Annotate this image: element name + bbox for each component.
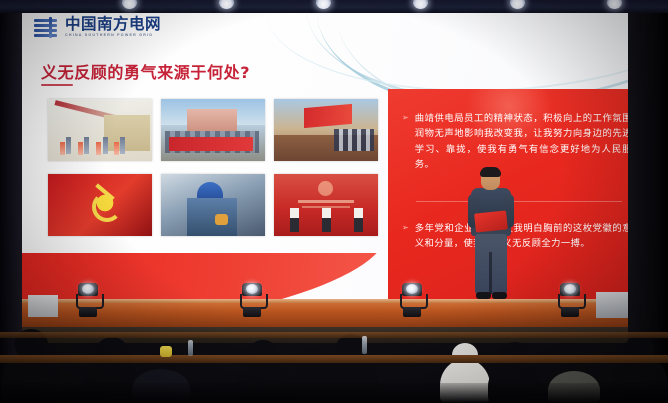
ceiling-light-6	[607, 0, 622, 9]
ceiling-light-3	[316, 0, 331, 9]
drink-cup	[160, 346, 172, 357]
moving-head-light-4	[558, 283, 582, 317]
conference-hall-scene: 中国南方电网 CHINA SOUTHERN POWER GRID 义无反顾的勇气…	[0, 0, 668, 403]
title-underline	[41, 84, 73, 86]
bullet-arrow-icon: ➢	[402, 221, 409, 252]
slide-canvas: 中国南方电网 CHINA SOUTHERN POWER GRID 义无反顾的勇气…	[16, 11, 628, 301]
photo-row-top	[48, 99, 378, 161]
brand-lockup: 中国南方电网 CHINA SOUTHERN POWER GRID	[34, 17, 161, 38]
audience-table-back	[0, 332, 668, 338]
projection-screen: 中国南方电网 CHINA SOUTHERN POWER GRID 义无反顾的勇气…	[16, 11, 628, 301]
stage-edge-highlight	[22, 299, 628, 303]
brand-name-cn: 中国南方电网	[65, 17, 161, 33]
slide-title: 义无反顾的勇气来源于何处?	[41, 59, 250, 83]
photo-team-banner-group	[161, 99, 265, 161]
photo-row-bottom	[48, 174, 378, 236]
ceiling-light-5	[510, 0, 525, 9]
photo-red-flag-fieldwork	[274, 99, 378, 161]
bullet-item-2: ➢ 多年党和企业的教诲让我明白胸前的这枚党徽的意义和分量，使我能够义无反顾全力一…	[402, 221, 628, 252]
panel-divider	[416, 201, 622, 202]
photo-substation-construction	[48, 99, 152, 161]
power-grid-logo-icon	[34, 17, 59, 38]
bullet-item-1: ➢ 曲靖供电局员工的精神状态，积极向上的工作氛围润物无声地影响我改变我，让我努力…	[402, 111, 628, 173]
ceiling-light-2	[219, 0, 234, 9]
ceiling-light-4	[413, 0, 428, 9]
foreground-shadow	[0, 383, 668, 403]
moving-head-light-3	[400, 283, 424, 317]
brand-name-en: CHINA SOUTHERN POWER GRID	[65, 34, 161, 38]
moving-head-light-1	[76, 283, 100, 317]
presenter-on-stage	[468, 168, 514, 303]
water-bottle	[188, 340, 193, 356]
photo-grid	[48, 99, 378, 236]
ceiling-strip	[0, 0, 668, 13]
photo-worker-blue-helmet	[161, 174, 265, 236]
stage-prop-box	[28, 295, 58, 317]
water-bottle	[362, 336, 367, 354]
ceiling-light-1	[122, 0, 137, 9]
photo-award-stage	[274, 174, 378, 236]
slide-bottom-wave	[16, 253, 386, 301]
brand-text: 中国南方电网 CHINA SOUTHERN POWER GRID	[65, 17, 161, 38]
red-folder	[474, 210, 508, 232]
bullet-arrow-icon: ➢	[402, 111, 409, 173]
bullet-text-2: 多年党和企业的教诲让我明白胸前的这枚党徽的意义和分量，使我能够义无反顾全力一搏。	[415, 221, 628, 252]
bullet-text-1: 曲靖供电局员工的精神状态，积极向上的工作氛围润物无声地影响我改变我，让我努力向身…	[415, 111, 628, 173]
photo-party-flag	[48, 174, 152, 236]
audience-table-front	[0, 355, 668, 363]
moving-head-light-2	[240, 283, 264, 317]
